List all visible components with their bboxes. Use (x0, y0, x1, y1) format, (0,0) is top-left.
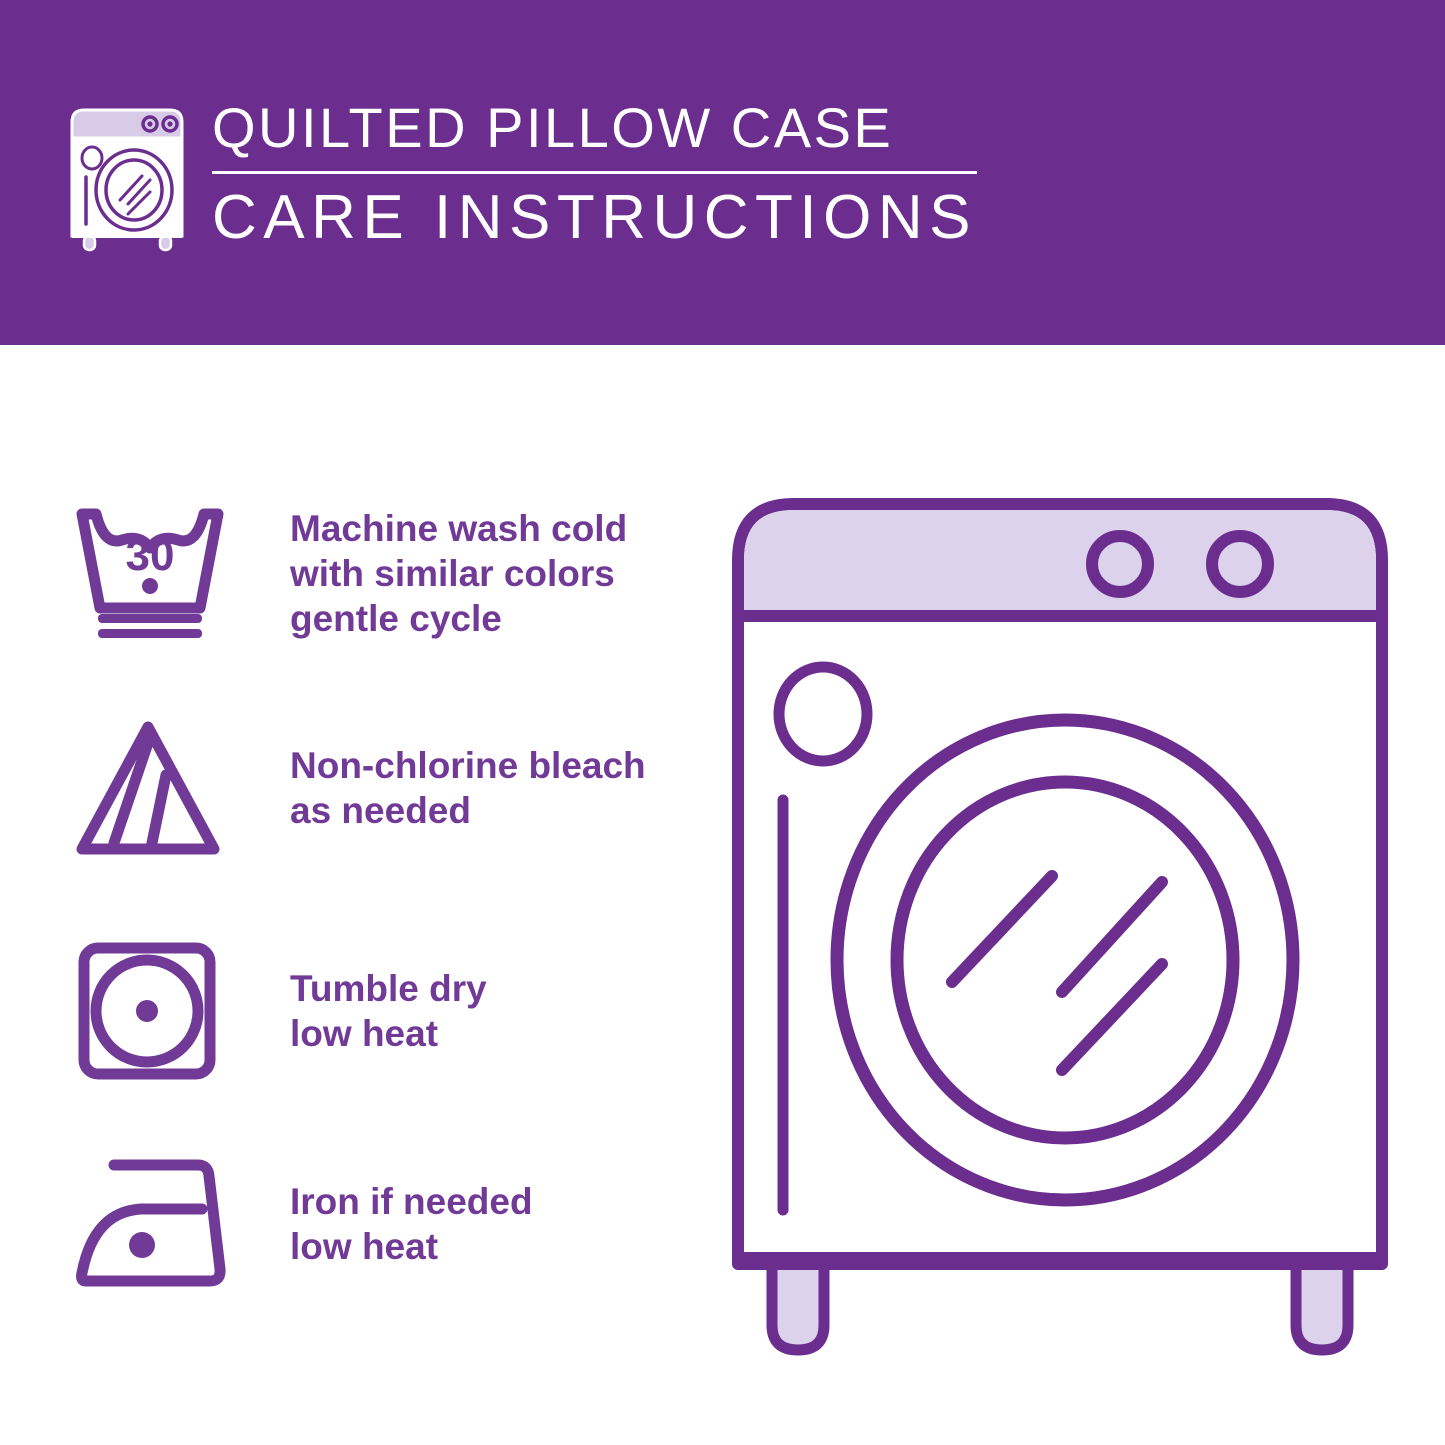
care-instructions-title: CARE INSTRUCTIONS (212, 182, 1012, 254)
care-instruction-row-dry: Tumble dry low heat (70, 935, 690, 1087)
control-panel (744, 510, 1376, 616)
care-instruction-label: Iron if needed low heat (290, 1179, 533, 1269)
washing-machine-illustration (710, 470, 1410, 1380)
care-label-line: Machine wash cold (290, 506, 627, 551)
tumble-dry-icon (70, 936, 240, 1086)
washing-machine-icon (62, 100, 192, 255)
care-label-line: as needed (290, 788, 646, 833)
header-band: QUILTED PILLOW CASE CARE INSTRUCTIONS (0, 0, 1445, 345)
header-text-block: QUILTED PILLOW CASE CARE INSTRUCTIONS (212, 96, 1012, 254)
care-instruction-label: Non-chlorine bleach as needed (290, 743, 646, 833)
care-label-line: Tumble dry (290, 966, 487, 1011)
wash-temperature-value: 30 (126, 531, 175, 580)
care-label-line: low heat (290, 1011, 487, 1056)
care-instruction-row-bleach: Non-chlorine bleach as needed (70, 712, 690, 864)
care-label-line: Non-chlorine bleach (290, 743, 646, 788)
care-instruction-label: Machine wash cold with similar colors ge… (290, 506, 627, 641)
care-instruction-label: Tumble dry low heat (290, 966, 487, 1056)
care-instruction-row-iron: Iron if needed low heat (70, 1148, 690, 1300)
care-instruction-row-wash: 30 Machine wash cold with similar colors… (70, 497, 690, 649)
care-instructions-card: QUILTED PILLOW CASE CARE INSTRUCTIONS 30… (0, 0, 1445, 1445)
title-divider (212, 171, 977, 174)
machine-legs (772, 1260, 1348, 1350)
wash-basin-icon: 30 (70, 498, 240, 648)
page-title: QUILTED PILLOW CASE (212, 96, 1012, 160)
care-label-line: with similar colors (290, 551, 627, 596)
care-label-line: low heat (290, 1224, 533, 1269)
care-label-line: gentle cycle (290, 596, 627, 641)
bleach-triangle-icon (70, 713, 240, 863)
iron-icon (70, 1149, 240, 1299)
care-label-line: Iron if needed (290, 1179, 533, 1224)
